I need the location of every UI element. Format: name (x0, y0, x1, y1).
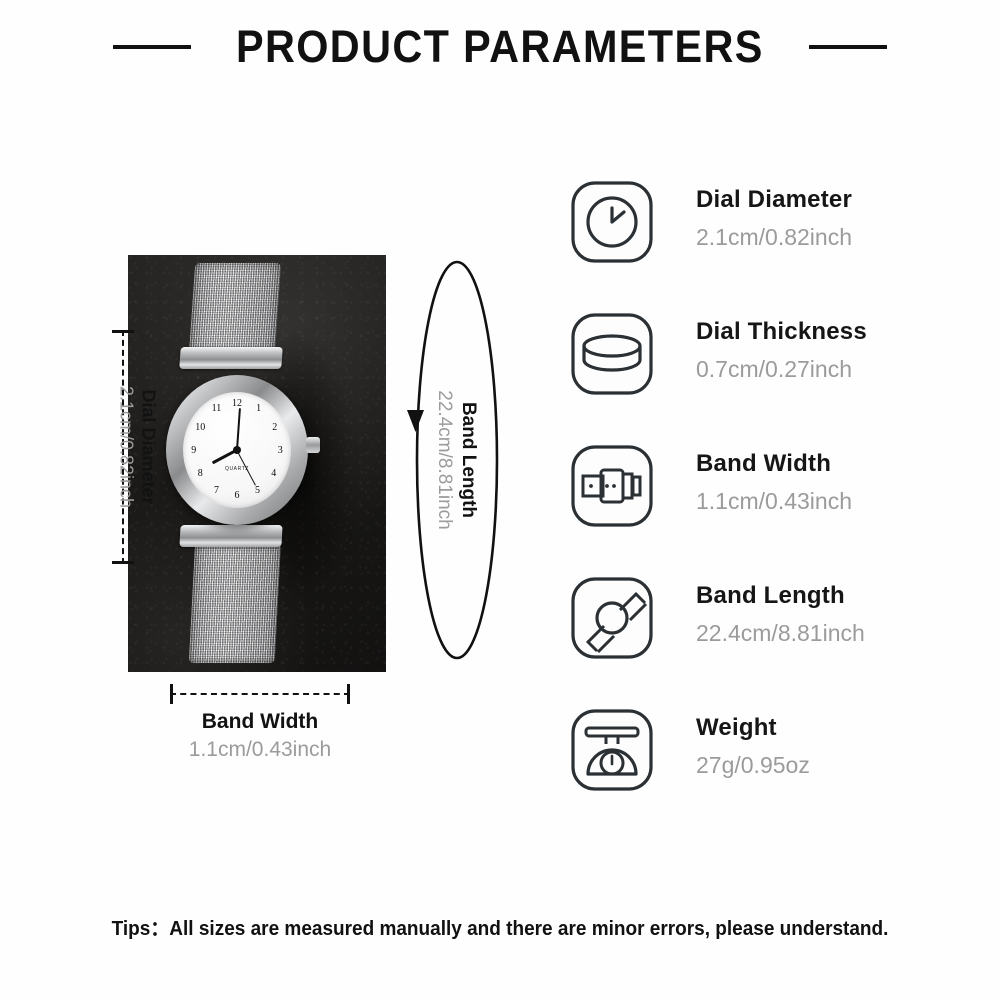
band-width-buckle-icon (568, 442, 656, 530)
spec-label-dial-thickness: Dial Thickness (696, 318, 867, 346)
product-photo: 12 1 2 3 4 5 6 7 8 9 10 11 QUARTZ (128, 255, 386, 672)
dial-diameter-callout-label: Dial Diameter (138, 332, 159, 562)
dial-numeral-3: 3 (278, 446, 283, 456)
spec-value-band-width: 1.1cm/0.43inch (696, 488, 852, 515)
dial-numeral-5: 5 (255, 486, 260, 496)
weight-scale-icon (568, 706, 656, 794)
specification-list: Dial Diameter 2.1cm/0.82inch Dial Thickn… (568, 178, 988, 838)
dial-diameter-callout-labels: Dial Diameter 2.1cm/0.82inch (116, 332, 159, 562)
band-length-callout-label: Band Length (457, 300, 479, 620)
spec-text-dial-diameter: Dial Diameter 2.1cm/0.82inch (696, 186, 852, 251)
watch-clasp-top (179, 347, 283, 369)
page-title: PRODUCT PARAMETERS (236, 21, 764, 73)
spec-value-band-length: 22.4cm/8.81inch (696, 620, 865, 647)
band-width-dimension (170, 684, 350, 704)
dial-diameter-callout-value: 2.1cm/0.82inch (116, 332, 137, 562)
spec-value-weight: 27g/0.95oz (696, 752, 810, 779)
band-width-cap-right (347, 684, 350, 704)
dial-numeral-9: 9 (191, 446, 196, 456)
watch-case: 12 1 2 3 4 5 6 7 8 9 10 11 QUARTZ (166, 375, 308, 525)
watch-band-bottom (189, 539, 281, 663)
dial-numeral-8: 8 (198, 469, 203, 479)
footer-tip: Tips：All sizes are measured manually and… (25, 912, 975, 941)
title-dash-right-icon (809, 45, 887, 49)
band-width-callout-labels: Band Width 1.1cm/0.43inch (130, 710, 390, 762)
dial-numeral-4: 4 (271, 469, 276, 479)
title-dash-left-icon (113, 45, 191, 49)
spec-row-dial-diameter: Dial Diameter 2.1cm/0.82inch (568, 178, 988, 310)
dial-minute-hand (236, 408, 241, 450)
dial-numeral-11: 11 (212, 404, 222, 414)
band-width-dashed-line (170, 693, 350, 695)
dial-numeral-12: 12 (232, 399, 242, 409)
spec-label-weight: Weight (696, 714, 810, 742)
spec-text-dial-thickness: Dial Thickness 0.7cm/0.27inch (696, 318, 867, 383)
dial-numeral-7: 7 (214, 486, 219, 496)
spec-text-band-width: Band Width 1.1cm/0.43inch (696, 450, 852, 515)
dial-numeral-6: 6 (235, 491, 240, 501)
spec-text-weight: Weight 27g/0.95oz (696, 714, 810, 779)
wristwatch-illustration: 12 1 2 3 4 5 6 7 8 9 10 11 QUARTZ (146, 263, 321, 663)
band-width-callout-value: 1.1cm/0.43inch (130, 738, 390, 762)
band-length-callout-value: 22.4cm/8.81inch (433, 300, 455, 620)
dial-numeral-1: 1 (256, 404, 261, 414)
band-length-dimension: Band Length 22.4cm/8.81inch (398, 250, 516, 670)
dial-center-pin (233, 446, 241, 454)
band-width-callout-label: Band Width (130, 710, 390, 734)
dial-numeral-10: 10 (195, 423, 205, 433)
dial-diameter-dimension: Dial Diameter 2.1cm/0.82inch (96, 330, 148, 564)
spec-row-weight: Weight 27g/0.95oz (568, 706, 988, 838)
band-length-callout-labels: Band Length 22.4cm/8.81inch (433, 300, 479, 620)
spec-label-band-width: Band Width (696, 450, 852, 478)
dial-thickness-cylinder-icon (568, 310, 656, 398)
spec-label-dial-diameter: Dial Diameter (696, 186, 852, 214)
spec-row-dial-thickness: Dial Thickness 0.7cm/0.27inch (568, 310, 988, 442)
spec-row-band-width: Band Width 1.1cm/0.43inch (568, 442, 988, 574)
watch-photo-background: 12 1 2 3 4 5 6 7 8 9 10 11 QUARTZ (128, 255, 386, 672)
spec-text-band-length: Band Length 22.4cm/8.81inch (696, 582, 865, 647)
spec-row-band-length: Band Length 22.4cm/8.81inch (568, 574, 988, 706)
watch-dial: 12 1 2 3 4 5 6 7 8 9 10 11 QUARTZ (183, 392, 291, 508)
watch-clasp-bottom (179, 525, 282, 547)
watch-dial-icon (568, 178, 656, 266)
watch-band-top (189, 263, 281, 355)
spec-value-dial-thickness: 0.7cm/0.27inch (696, 356, 867, 383)
dial-numeral-2: 2 (272, 423, 277, 433)
spec-value-dial-diameter: 2.1cm/0.82inch (696, 224, 852, 251)
spec-label-band-length: Band Length (696, 582, 865, 610)
page-title-bar: PRODUCT PARAMETERS (0, 14, 1000, 80)
watch-crown (306, 437, 320, 453)
band-length-watch-icon (568, 574, 656, 662)
